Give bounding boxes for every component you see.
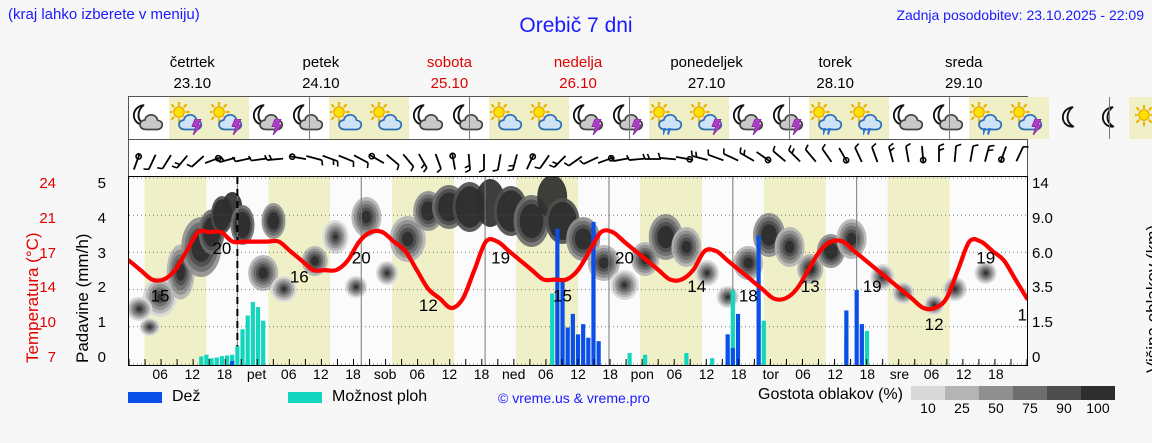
temperature-axis-ticks: 24211714107 <box>28 176 56 366</box>
temperature-label: 15 <box>553 287 572 306</box>
x-tick-label: 12 <box>442 366 458 382</box>
wind-barb <box>1011 140 1027 176</box>
precip-bar <box>581 324 585 365</box>
cloud-height-axis-ticks: 149.06.03.51.50 <box>1032 176 1072 366</box>
precip-bar <box>597 341 601 365</box>
precip-bar <box>215 358 219 365</box>
forecast-plot: 152016201219152014181319121913 <box>128 176 1028 366</box>
axis-tick: 14 <box>1032 175 1072 192</box>
day-name: ponedeljek <box>642 52 771 73</box>
cloud-density-step <box>945 386 979 400</box>
weather-icon-sun-cloud <box>329 97 369 139</box>
cloud-density-scale-numbers: 1025507590100 <box>911 400 1115 416</box>
cloud-density-scale-bars <box>911 386 1115 400</box>
x-tick-label: 12 <box>827 366 843 382</box>
x-tick-label: 18 <box>474 366 490 382</box>
axis-tick: 1.5 <box>1032 314 1072 331</box>
precip-bar <box>710 358 714 365</box>
x-tick-label: 18 <box>602 366 618 382</box>
temperature-label: 14 <box>687 277 706 296</box>
day-name: petek <box>257 52 386 73</box>
precip-bar <box>855 290 859 365</box>
day-date: 28.10 <box>771 73 900 94</box>
weather-icon-sun-cloud-rain <box>849 97 889 139</box>
day-name: sobota <box>385 52 514 73</box>
axis-tick: 1 <box>80 314 106 331</box>
weather-icon-sun-cloud <box>489 97 529 139</box>
x-tick-label: pon <box>631 366 654 382</box>
axis-tick: 6.0 <box>1032 245 1072 262</box>
wind-barb-strip <box>128 140 1028 176</box>
cloud-height-axis-title: Višina oblakov (km) <box>1122 175 1148 375</box>
precip-bar <box>261 321 265 365</box>
weather-icon-sun-cloud-rain <box>649 97 689 139</box>
showers-swatch <box>288 392 322 403</box>
axis-tick: 17 <box>28 245 56 262</box>
day-date: 26.10 <box>514 73 643 94</box>
temperature-label: 18 <box>739 287 758 306</box>
cloud-density-step-label: 10 <box>911 400 945 416</box>
precip-bar <box>726 334 730 365</box>
axis-tick: 4 <box>80 210 106 227</box>
axis-tick: 3 <box>80 245 106 262</box>
day-separator <box>469 97 470 139</box>
cloud-density-step-label: 100 <box>1081 400 1115 416</box>
x-tick-label: 06 <box>538 366 554 382</box>
x-tick-label: 18 <box>731 366 747 382</box>
copyright-link[interactable]: © vreme.us & vreme.pro <box>498 390 650 406</box>
legend-label-showers: Možnost ploh <box>332 388 427 406</box>
day-name: četrtek <box>128 52 257 73</box>
day-date: 29.10 <box>899 73 1028 94</box>
day-date: 24.10 <box>257 73 386 94</box>
temperature-label: 20 <box>212 239 231 258</box>
legend-label-rain: Dež <box>172 388 200 406</box>
precip-bar <box>628 353 632 365</box>
axis-tick: 3.5 <box>1032 279 1072 296</box>
wind-barb <box>507 140 523 176</box>
weather-icon-moon-cloud <box>289 97 329 139</box>
precipitation-axis-ticks: 543210 <box>80 176 106 366</box>
weather-icon-sun-cloud-rain <box>969 97 1009 139</box>
weather-icon-moon-cloud <box>929 97 969 139</box>
precip-bar <box>731 348 735 365</box>
cloud-density-step <box>1013 386 1047 400</box>
day-header-6: sreda29.10 <box>899 52 1028 96</box>
weather-icon-moon-cloud-thunder <box>769 97 809 139</box>
temperature-label: 16 <box>290 268 309 287</box>
precip-bar <box>844 310 848 365</box>
legend-item-showers: Možnost ploh <box>288 388 427 406</box>
day-name: torek <box>771 52 900 73</box>
day-date: 25.10 <box>385 73 514 94</box>
day-name: sreda <box>899 52 1028 73</box>
x-tick-label: 18 <box>345 366 361 382</box>
day-header-2: sobota25.10 <box>385 52 514 96</box>
x-tick-label: 06 <box>795 366 811 382</box>
precip-bar <box>571 314 575 365</box>
precip-bar <box>230 361 234 365</box>
weather-icon-strip <box>128 96 1028 140</box>
cloud-density-step <box>1047 386 1081 400</box>
weather-icon-moon-cloud-thunder <box>249 97 289 139</box>
x-tick-label: 12 <box>570 366 586 382</box>
axis-tick: 10 <box>28 314 56 331</box>
day-separator <box>1109 97 1110 139</box>
temperature-label: 20 <box>615 249 634 268</box>
axis-tick: 0 <box>80 349 106 366</box>
weather-icon-moon <box>1049 97 1089 139</box>
x-axis-labels: 061218pet061218sob061218ned061218pon0612… <box>128 366 1028 384</box>
last-update-label: Zadnja posodobitev: 23.10.2025 - 22:09 <box>896 7 1144 23</box>
day-separator <box>949 97 950 139</box>
precip-bar <box>199 356 203 365</box>
weather-icon-sun-cloud <box>529 97 569 139</box>
weather-icon-sun-cloud-rain <box>809 97 849 139</box>
axis-tick: 7 <box>28 349 56 366</box>
x-tick-label: 12 <box>184 366 200 382</box>
plot-canvas: 152016201219152014181319121913 <box>129 177 1027 365</box>
axis-tick: 24 <box>28 175 56 192</box>
day-header-5: torek28.10 <box>771 52 900 96</box>
temperature-label: 19 <box>491 249 510 268</box>
weather-icon-sun-cloud-thunder <box>689 97 729 139</box>
x-tick-label: sob <box>374 366 397 382</box>
temperature-label: 12 <box>419 296 438 315</box>
precip-bar <box>586 338 590 365</box>
day-header-3: nedelja26.10 <box>514 52 643 96</box>
weather-icon-moon-cloud <box>449 97 489 139</box>
legend-item-rain: Dež <box>128 388 200 406</box>
weather-icon-moon-cloud-thunder <box>569 97 609 139</box>
x-tick-label: ned <box>502 366 525 382</box>
cloud-density-legend-title: Gostota oblakov (%) <box>758 386 903 404</box>
cloud-density-step <box>911 386 945 400</box>
cloud-height-axis-title-text: Višina oblakov (km) <box>1143 225 1152 373</box>
temperature-label: 12 <box>925 315 944 334</box>
weather-icon-sun <box>1129 97 1152 139</box>
day-date: 27.10 <box>642 73 771 94</box>
precip-bar <box>566 328 570 365</box>
precip-bar <box>762 321 766 365</box>
weather-icon-moon-cloud-thunder <box>729 97 769 139</box>
cloud-density-legend: Gostota oblakov (%) 1025507590100 <box>758 386 1115 416</box>
day-date: 23.10 <box>128 73 257 94</box>
day-separator <box>309 97 310 139</box>
precip-bar <box>235 346 239 365</box>
rain-swatch <box>128 392 162 403</box>
day-separator <box>789 97 790 139</box>
precip-bar <box>209 358 213 365</box>
precip-bar <box>643 355 647 365</box>
weather-icon-moon-cloud-thunder <box>609 97 649 139</box>
x-tick-label: 18 <box>217 366 233 382</box>
x-tick-label: pet <box>247 366 266 382</box>
temperature-label: 20 <box>352 249 371 268</box>
precip-bar <box>736 314 740 365</box>
cloud-density-step <box>979 386 1013 400</box>
cloud-density-step-label: 75 <box>1013 400 1047 416</box>
x-tick-label: 12 <box>699 366 715 382</box>
x-tick-label: 12 <box>956 366 972 382</box>
precip-bar <box>684 353 688 365</box>
x-tick-label: tor <box>763 366 779 382</box>
precip-bar <box>860 324 864 365</box>
weather-icon-moon-cloud <box>889 97 929 139</box>
axis-tick: 9.0 <box>1032 210 1072 227</box>
weather-icon-sun-cloud-thunder <box>1009 97 1049 139</box>
x-tick-label: 12 <box>313 366 329 382</box>
temperature-axis-title: Temperatura (°C) <box>2 175 28 365</box>
day-separator <box>629 97 630 139</box>
precip-bar <box>204 355 208 365</box>
chart-legend: Dež Možnost ploh © vreme.us & vreme.pro … <box>128 386 1148 426</box>
cloud-density-step-label: 25 <box>945 400 979 416</box>
day-name: nedelja <box>514 52 643 73</box>
precip-bar <box>251 302 255 365</box>
temperature-label: 19 <box>863 277 882 296</box>
temperature-label: 19 <box>976 249 995 268</box>
weather-icon-sun-cloud <box>369 97 409 139</box>
precip-bar <box>246 316 250 365</box>
x-tick-label: 06 <box>667 366 683 382</box>
x-tick-label: 18 <box>859 366 875 382</box>
cloud-density-step-label: 90 <box>1047 400 1081 416</box>
precip-bar <box>220 356 224 365</box>
wind-barb <box>460 140 476 176</box>
precip-bar <box>256 307 260 365</box>
temperature-label: 13 <box>1018 306 1027 325</box>
x-tick-label: 06 <box>281 366 297 382</box>
temperature-label: 15 <box>151 287 170 306</box>
axis-tick: 5 <box>80 175 106 192</box>
day-header-0: četrtek23.10 <box>128 52 257 96</box>
cloud-density-step <box>1081 386 1115 400</box>
wind-barb <box>995 140 1011 176</box>
weather-icon-sun-cloud-thunder <box>209 97 249 139</box>
weather-icon-moon-cloud <box>409 97 449 139</box>
wind-barb <box>129 140 145 176</box>
x-tick-label: 06 <box>924 366 940 382</box>
x-tick-label: sre <box>890 366 909 382</box>
wind-barb <box>917 140 933 176</box>
x-tick-label: 06 <box>152 366 168 382</box>
weather-icon-moon <box>1089 97 1129 139</box>
cloud-density-step-label: 50 <box>979 400 1013 416</box>
x-tick-label: 18 <box>988 366 1004 382</box>
weather-icon-sun-cloud-thunder <box>169 97 209 139</box>
wind-barb <box>444 140 460 176</box>
wind-barb <box>932 140 948 176</box>
day-headers: četrtek23.10petek24.10sobota25.10nedelja… <box>128 52 1028 96</box>
weather-icon-moon-cloud <box>129 97 169 139</box>
temperature-label: 13 <box>801 277 820 296</box>
axis-tick: 14 <box>28 279 56 296</box>
axis-tick: 2 <box>80 279 106 296</box>
x-tick-label: 06 <box>409 366 425 382</box>
axis-tick: 21 <box>28 210 56 227</box>
axis-tick: 0 <box>1032 349 1072 366</box>
day-header-1: petek24.10 <box>257 52 386 96</box>
day-header-4: ponedeljek27.10 <box>642 52 771 96</box>
cloud-density-scale: 1025507590100 <box>911 386 1115 416</box>
